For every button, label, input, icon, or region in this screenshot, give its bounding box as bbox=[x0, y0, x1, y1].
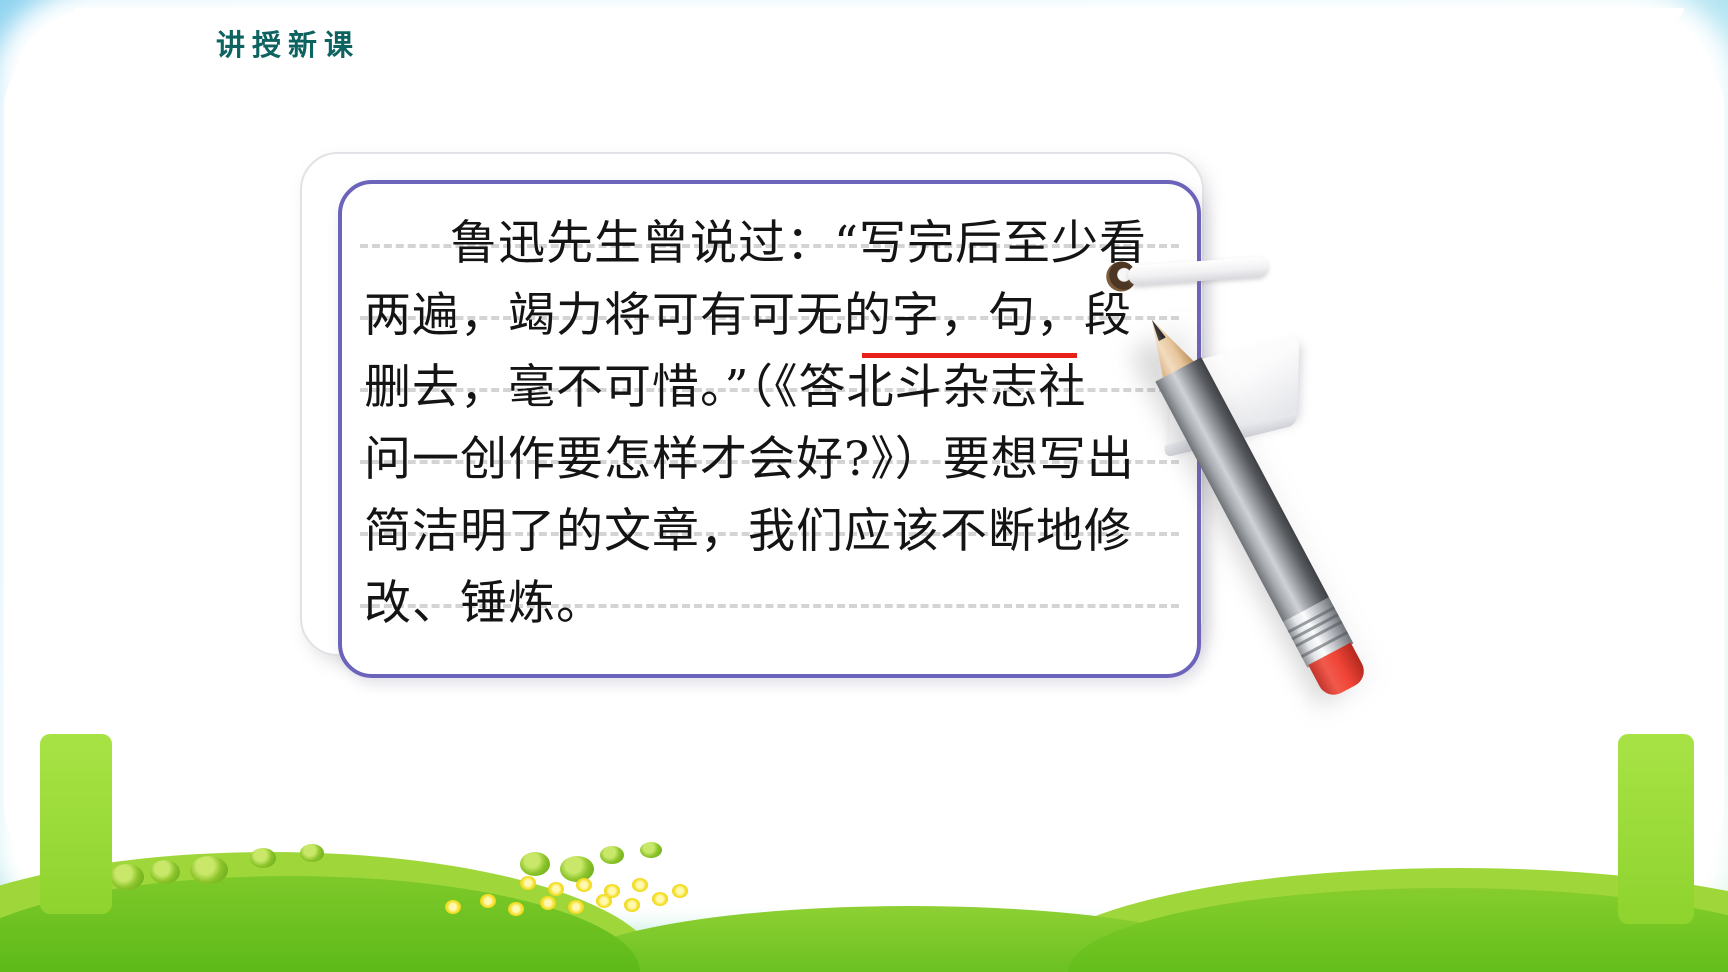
flower-icon bbox=[540, 896, 556, 910]
pencil-icon bbox=[1030, 330, 1350, 750]
hills-decoration bbox=[0, 792, 1728, 972]
flower-icon bbox=[672, 884, 688, 898]
bush-icon bbox=[250, 848, 276, 868]
frame-ruffle-bottom bbox=[74, 708, 1684, 788]
flower-icon bbox=[445, 900, 461, 914]
bush-icon bbox=[560, 856, 594, 882]
grass-edge-left bbox=[40, 734, 112, 914]
bush-icon bbox=[150, 860, 180, 884]
bush-icon bbox=[600, 846, 624, 864]
quote-line: 鲁迅先生曾说过：“写完后至少看 bbox=[364, 208, 1154, 280]
flower-icon bbox=[508, 902, 524, 916]
flower-icon bbox=[652, 892, 668, 906]
flower-icon bbox=[548, 882, 564, 896]
bush-icon bbox=[110, 864, 144, 890]
flower-icon bbox=[480, 894, 496, 908]
grass-edge-right bbox=[1618, 734, 1694, 924]
flower-icon bbox=[624, 898, 640, 912]
bush-icon bbox=[520, 852, 550, 876]
flower-icon bbox=[568, 900, 584, 914]
slide-stage: 讲授新课 鲁迅先生曾说过：“写完后至少看两遍，竭力将可有可无的字，句，段删去，毫… bbox=[0, 0, 1728, 972]
page-title: 讲授新课 bbox=[216, 22, 360, 64]
bush-icon bbox=[640, 842, 662, 858]
flower-icon bbox=[520, 876, 536, 890]
flower-icon bbox=[632, 878, 648, 892]
flower-icon bbox=[596, 894, 612, 908]
flower-icon bbox=[576, 878, 592, 892]
bush-icon bbox=[190, 856, 228, 884]
bush-icon bbox=[300, 844, 324, 862]
